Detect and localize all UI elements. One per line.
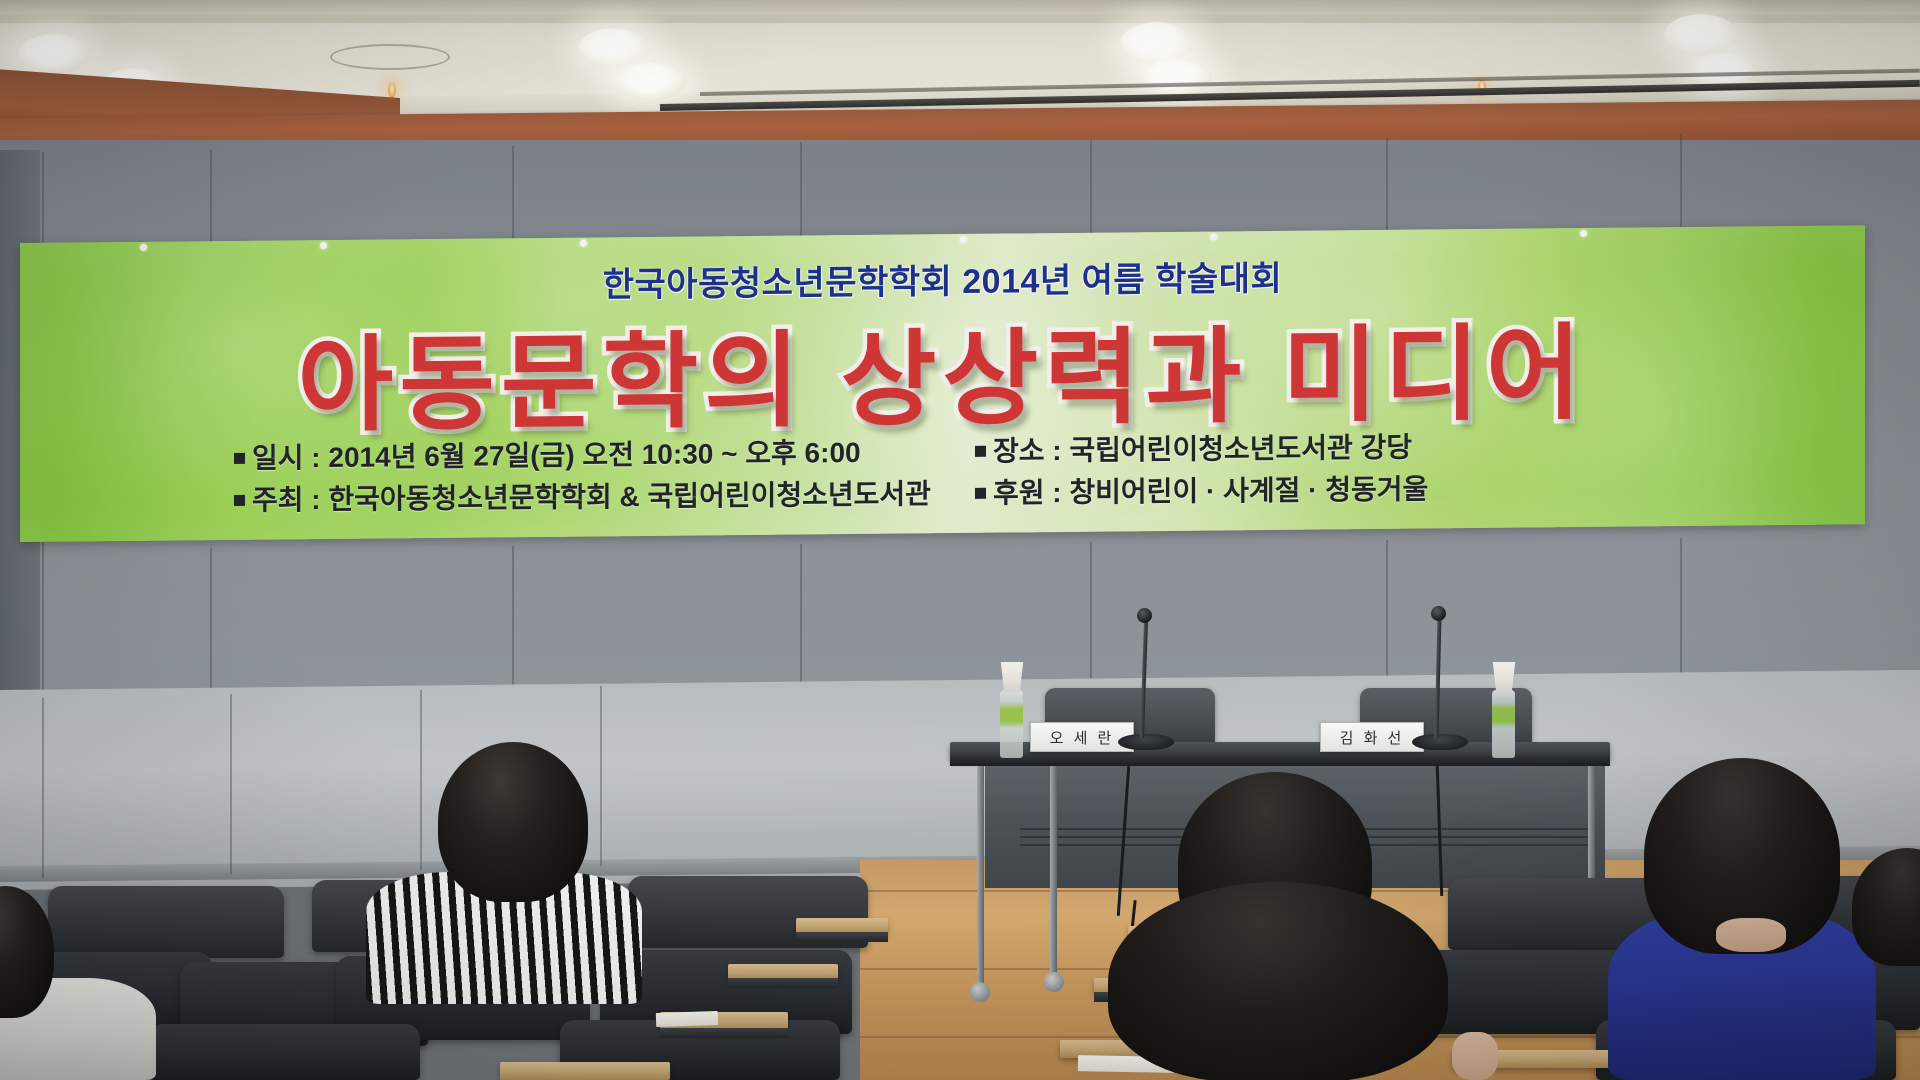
square-bullet-icon	[234, 453, 245, 464]
ceiling-vent-icon	[330, 44, 450, 70]
ceiling-light-icon	[18, 34, 90, 74]
ceiling-light-icon	[1142, 58, 1212, 96]
attendee-center-front-hair	[1108, 882, 1448, 1080]
auditorium-seat-icon	[148, 1024, 420, 1080]
wall-seam	[800, 142, 802, 242]
water-bottle-icon-right	[1492, 690, 1515, 758]
nameplate-left: 오 세 란	[1030, 722, 1134, 752]
wall-seam	[1386, 138, 1388, 242]
attendee-left-hair	[438, 742, 588, 902]
banner-info-place: 장소 : 국립어린이청소년도서관 강당	[975, 426, 1412, 470]
ceiling-beam-upper	[0, 0, 1920, 14]
table-caster	[1044, 972, 1064, 992]
attendee-right-neck	[1716, 918, 1786, 952]
microphone-icon-head-right	[1431, 606, 1446, 621]
conference-hall-photo: 한국아동청소년문학학회 2014년 여름 학술대회 아동문학의 상상력과 미디어…	[0, 0, 1920, 1080]
square-bullet-icon	[234, 495, 245, 506]
wall-seam-lower	[42, 698, 44, 878]
wall-seam-lower	[230, 694, 232, 874]
apron-line	[1330, 836, 1590, 838]
banner-info-sponsor-text: 후원 : 창비어린이 · 사계절 · 청동거울	[993, 473, 1428, 508]
banner-title: 아동문학의 상상력과 미디어	[20, 285, 1865, 454]
wall-seam	[1680, 134, 1682, 240]
water-bottle-icon-left	[1000, 690, 1023, 758]
table-leg	[977, 766, 984, 988]
attendee-center-front-neck	[1452, 1032, 1498, 1080]
banner-clip-icon	[1580, 230, 1587, 237]
ceiling-beam-lower	[0, 14, 1920, 23]
banner-clip-icon	[580, 240, 587, 247]
apron-line	[1330, 828, 1590, 830]
wall-seam	[1090, 140, 1092, 242]
track-light-icon	[388, 82, 396, 98]
ceiling-light-icon	[616, 62, 686, 100]
banner-info-sponsor: 후원 : 창비어린이 · 사계절 · 청동거울	[975, 467, 1428, 511]
auditorium-seat-icon	[48, 886, 284, 958]
banner-info-date: 일시 : 2014년 6월 27일(금) 오전 10:30 ~ 오후 6:00	[234, 431, 861, 477]
square-bullet-icon	[975, 446, 986, 457]
audience-desk-edge	[660, 1028, 788, 1038]
wall-seam	[512, 146, 514, 244]
microphone-icon-head-left	[1137, 608, 1152, 623]
banner-info-date-text: 일시 : 2014년 6월 27일(금) 오전 10:30 ~ 오후 6:00	[252, 437, 861, 474]
banner-info-host: 주최 : 한국아동청소년문학학회 & 국립어린이청소년도서관	[234, 472, 931, 519]
banner-clip-icon	[320, 242, 327, 249]
banner-info-place-text: 장소 : 국립어린이청소년도서관 강당	[993, 432, 1412, 467]
wall-seam	[1386, 540, 1388, 698]
audience-desk-edge	[728, 978, 838, 988]
microphone-icon-base-left	[1118, 734, 1174, 750]
banner-info-host-text: 주최 : 한국아동청소년문학학회 & 국립어린이청소년도서관	[252, 478, 931, 516]
banner-clip-icon	[140, 244, 147, 251]
nameplate-right-text: 김 화 선	[1340, 727, 1405, 748]
audience-desk	[500, 1062, 670, 1080]
wall-seam	[210, 150, 212, 246]
handout-paper	[656, 1011, 718, 1027]
audience-desk-edge	[796, 932, 888, 942]
banner-clip-icon	[960, 236, 967, 243]
wall-seam	[800, 544, 802, 698]
banner-clip-icon	[1210, 234, 1217, 241]
square-bullet-icon	[975, 488, 986, 499]
wall-seam	[1090, 542, 1092, 698]
stage-table-edge	[950, 757, 1610, 766]
wall-seam-lower	[600, 686, 602, 866]
ceiling-light-icon	[1664, 14, 1738, 56]
table-caster	[970, 982, 990, 1002]
wall-seam	[512, 546, 514, 698]
wall-seam-lower	[420, 690, 422, 870]
nameplate-right: 김 화 선	[1320, 722, 1424, 752]
table-leg	[1050, 766, 1057, 978]
wall-seam	[210, 548, 212, 698]
microphone-icon-base-right	[1412, 734, 1468, 750]
nameplate-left-text: 오 세 란	[1050, 727, 1115, 748]
conference-banner: 한국아동청소년문학학회 2014년 여름 학술대회 아동문학의 상상력과 미디어…	[20, 225, 1865, 542]
